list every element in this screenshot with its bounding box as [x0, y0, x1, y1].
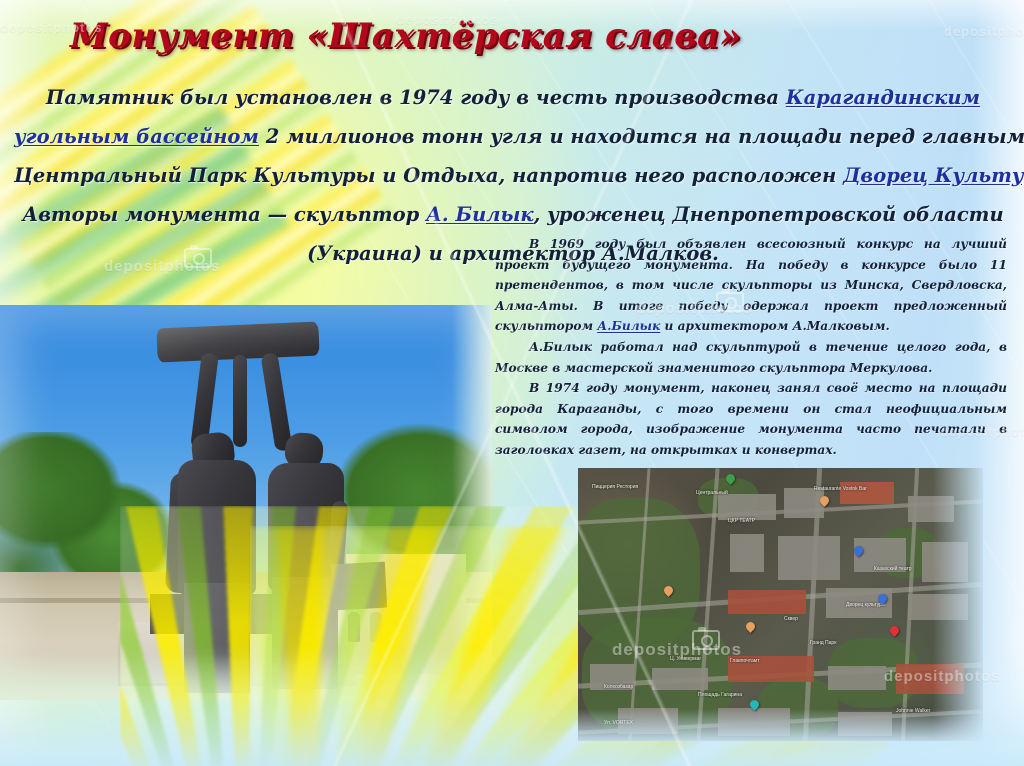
- map-pin-orange-1[interactable]: [820, 496, 829, 508]
- side-paragraph-1: А.Билык работал над скульптурой в течени…: [495, 337, 1007, 378]
- lead-line-3-link-1[interactable]: А. Билык: [426, 203, 534, 226]
- map-pin-blue-1[interactable]: [854, 546, 863, 558]
- lead-line-0: Памятник был установлен в 1974 году в че…: [14, 78, 1012, 117]
- lead-line-1: угольным бассейном 2 миллионов тонн угля…: [14, 117, 1012, 156]
- side-paragraph-0-link-1[interactable]: А.Билык: [597, 319, 660, 333]
- lead-line-2-text-0: Центральный Парк Культуры и Отдыха, напр…: [14, 164, 843, 187]
- map-label-0: Пиццерия Рестория: [592, 484, 638, 490]
- map-fade-right: [933, 468, 983, 741]
- map-label-9: Главпочтамт: [730, 658, 760, 664]
- presentation-slide: Монумент «Шахтёрская слава» Памятник был…: [0, 0, 1024, 766]
- satellite-map-image: Пиццерия РесторияЦентральныйRestaurante …: [578, 468, 983, 741]
- side-paragraph-2-text-0: В 1974 году монумент, наконец занял своё…: [495, 381, 1007, 457]
- side-paragraph-0: В 1969 году был объявлен всесоюзный конк…: [495, 234, 1007, 337]
- lead-line-3: Авторы монумента — скульптор А. Билык, у…: [14, 195, 1012, 234]
- lead-line-1-link-0[interactable]: угольным бассейном: [14, 125, 259, 148]
- map-label-8: Ц. Универмаг: [670, 656, 701, 662]
- lead-line-0-text-0: Памятник был установлен в 1974 году в че…: [46, 86, 786, 109]
- map-fade-bottom: [578, 709, 983, 741]
- side-paragraph-2: В 1974 году монумент, наконец занял своё…: [495, 378, 1007, 460]
- slide-title: Монумент «Шахтёрская слава»: [70, 16, 741, 56]
- map-pin-orange-3[interactable]: [664, 586, 673, 598]
- lead-line-3-text-2: , уроженец Днепропетровской области: [534, 203, 1004, 226]
- map-pin-orange-2[interactable]: [746, 622, 755, 634]
- map-label-set: Пиццерия РесторияЦентральныйRestaurante …: [578, 468, 983, 741]
- map-pin-green[interactable]: [726, 474, 735, 486]
- lead-line-3-text-0: Авторы монумента — скульптор: [22, 203, 426, 226]
- side-text-column: В 1969 году был объявлен всесоюзный конк…: [495, 234, 1007, 461]
- map-label-3: ЦКР ТЕАТР: [728, 518, 755, 524]
- map-pin-blue-2[interactable]: [878, 594, 887, 606]
- lead-line-0-link-1[interactable]: Карагандинским: [786, 86, 980, 109]
- side-paragraph-1-text-0: А.Билык работал над скульптурой в течени…: [495, 340, 1007, 375]
- map-label-10: Колхозбазар: [604, 684, 633, 690]
- map-label-13: Сквер: [784, 616, 798, 622]
- camera-icon: [692, 630, 720, 650]
- map-label-1: Центральный: [696, 490, 728, 496]
- lead-line-2: Центральный Парк Культуры и Отдыха, напр…: [14, 156, 1012, 195]
- map-pin-red-monument[interactable]: [890, 626, 899, 638]
- side-paragraph-0-text-2: и архитектором А.Малковым.: [660, 319, 889, 333]
- map-label-7: Гранд Парк: [810, 640, 836, 646]
- camera-icon: [716, 292, 744, 312]
- map-label-4: Казахский театр: [874, 566, 912, 572]
- lead-line-2-link-1[interactable]: Дворец Культуры Горняков: [843, 164, 1024, 187]
- camera-icon: [184, 248, 212, 268]
- map-label-2: Restaurante Vostok Bar: [814, 486, 867, 492]
- map-label-11: Площадь Гагарина: [698, 692, 742, 698]
- lead-line-1-text-1: 2 миллионов тонн угля и находится на пло…: [259, 125, 1024, 148]
